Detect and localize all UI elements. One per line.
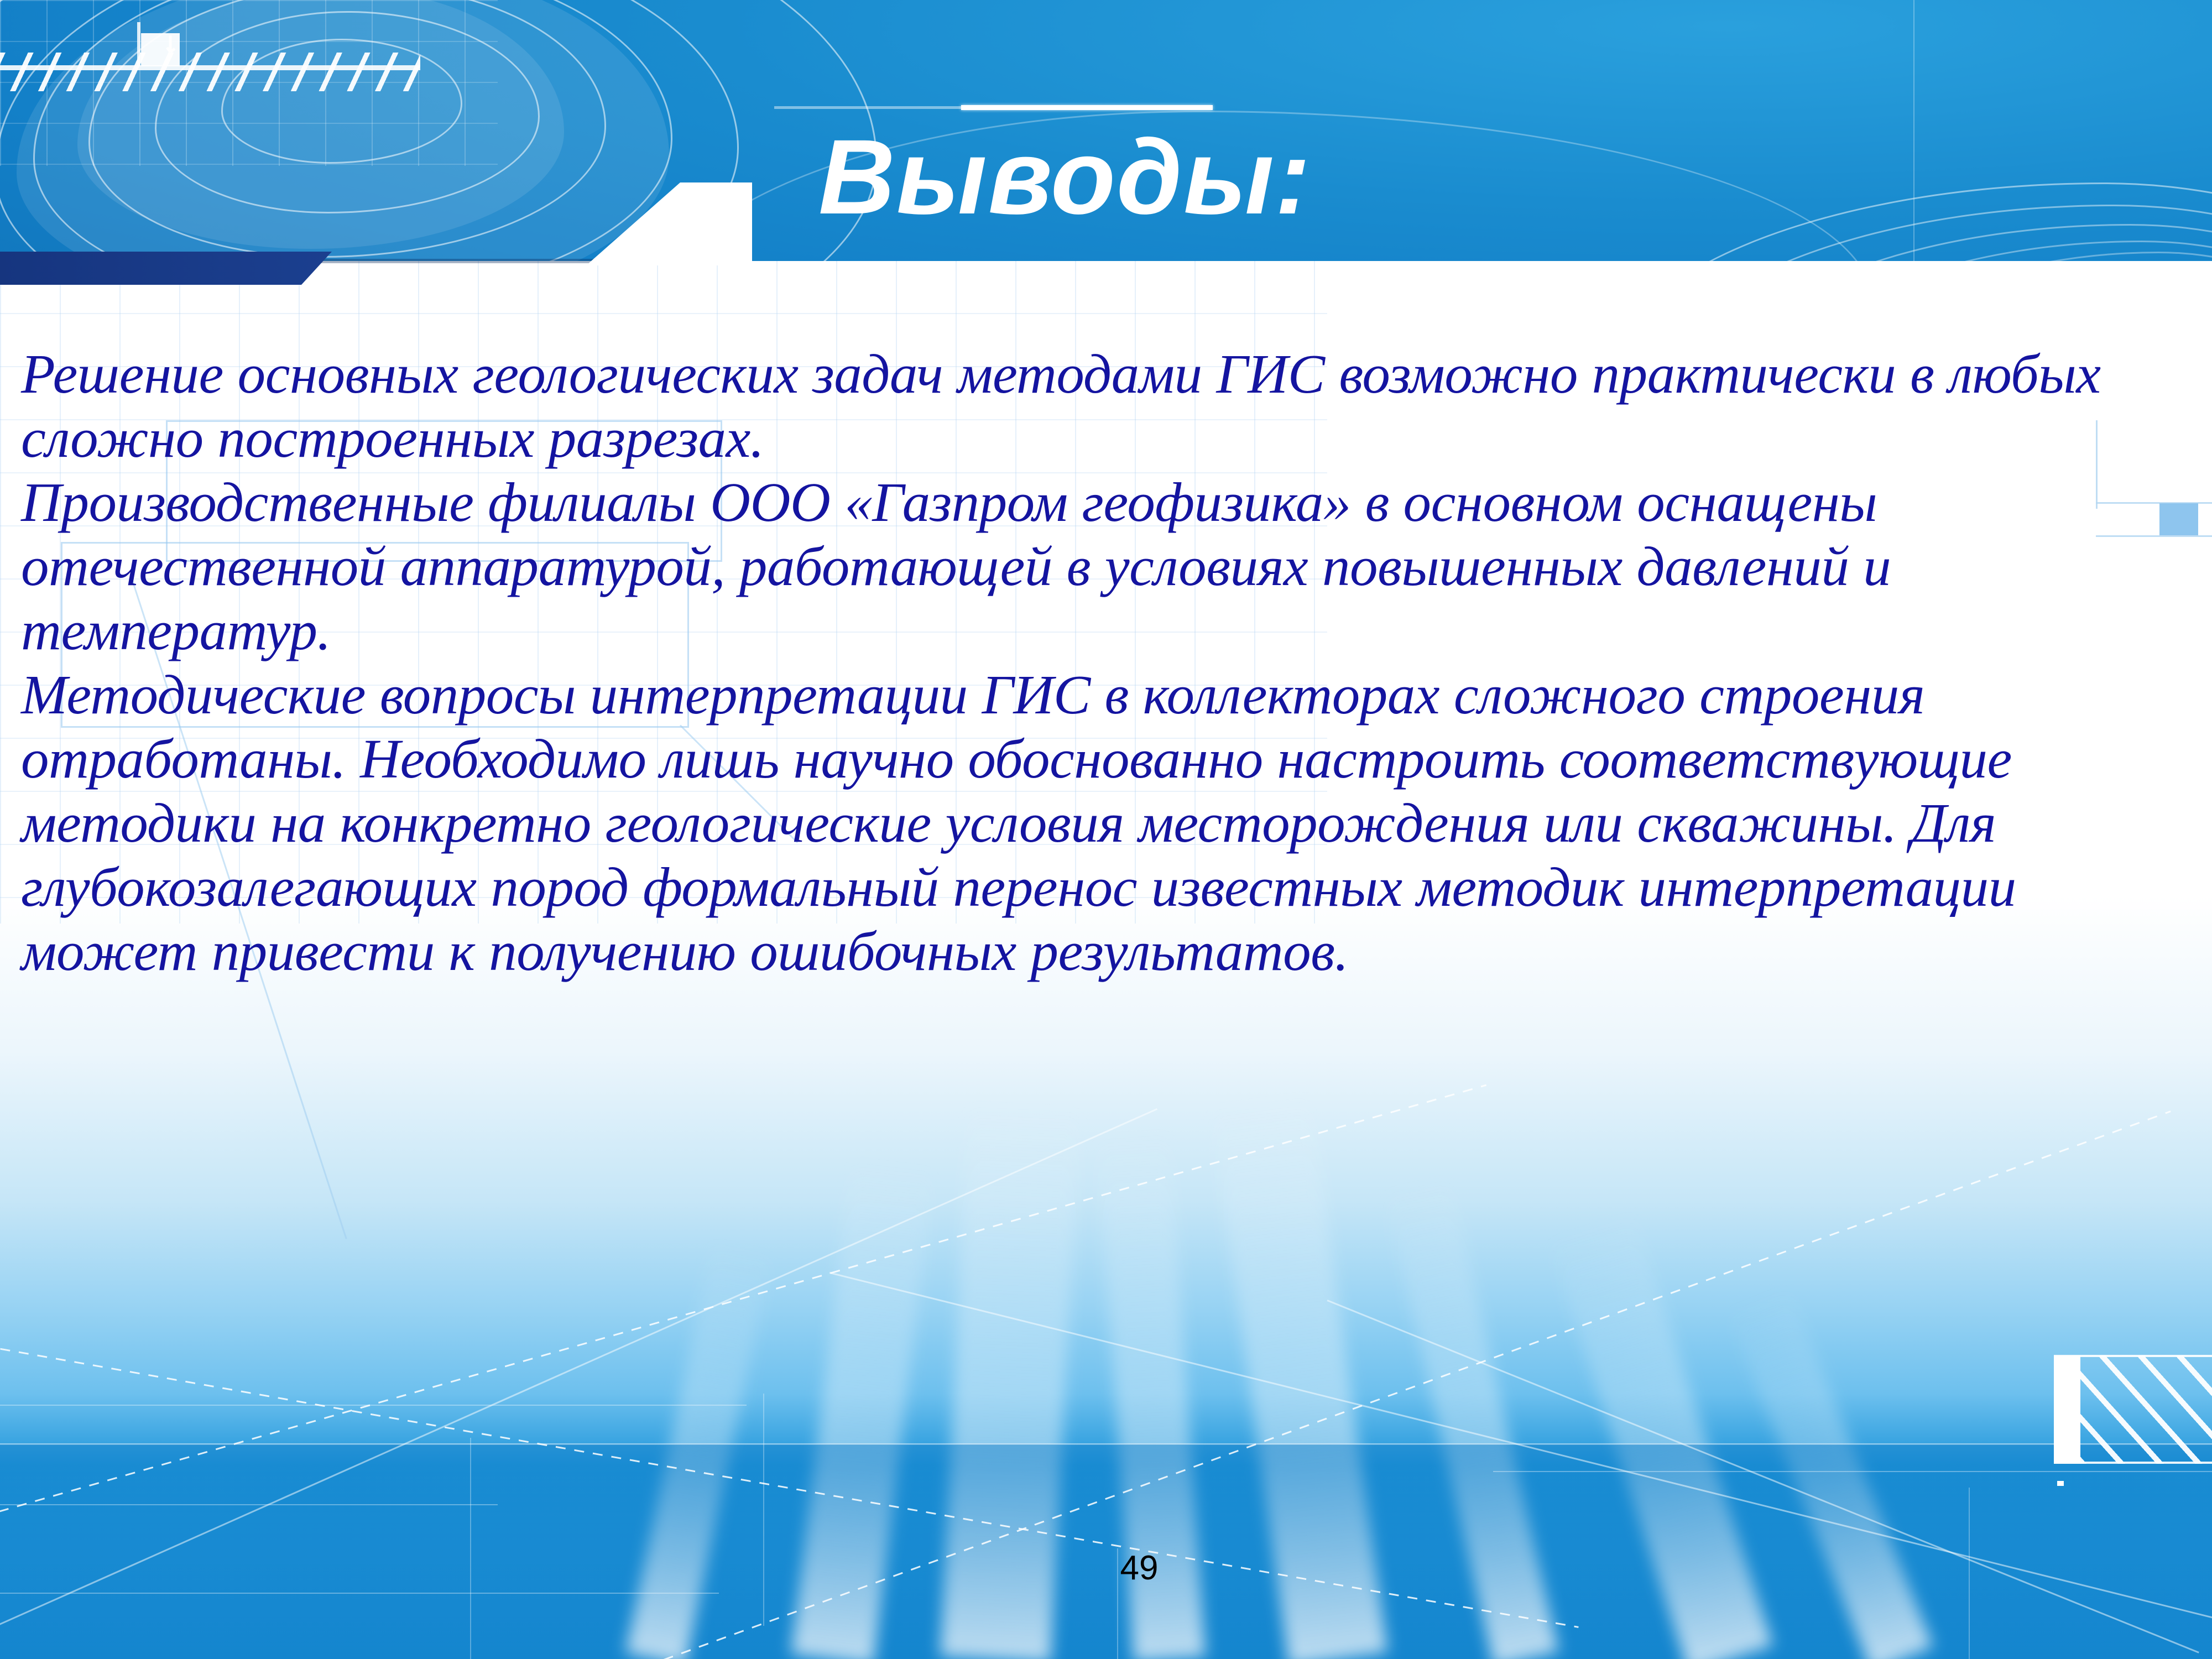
header-navy-band <box>0 252 332 285</box>
title-rule-faint <box>774 106 962 109</box>
header-marker-tick <box>137 22 140 66</box>
arrow-down-icon <box>166 32 194 60</box>
corner-bracket-icon <box>2054 1327 2212 1493</box>
slide-body-text: Решение основных геологических задач мет… <box>21 342 2133 983</box>
margin-cell-grid <box>2046 420 2212 564</box>
page-title: Выводы: <box>818 119 2090 241</box>
highlighted-cell <box>2159 503 2198 535</box>
title-rule <box>961 105 1213 110</box>
slide-header: Выводы: <box>0 0 2212 261</box>
page-number: 49 <box>1100 1548 1178 1588</box>
slide-root: Выводы: Решение основных геологических з… <box>0 0 2212 1659</box>
